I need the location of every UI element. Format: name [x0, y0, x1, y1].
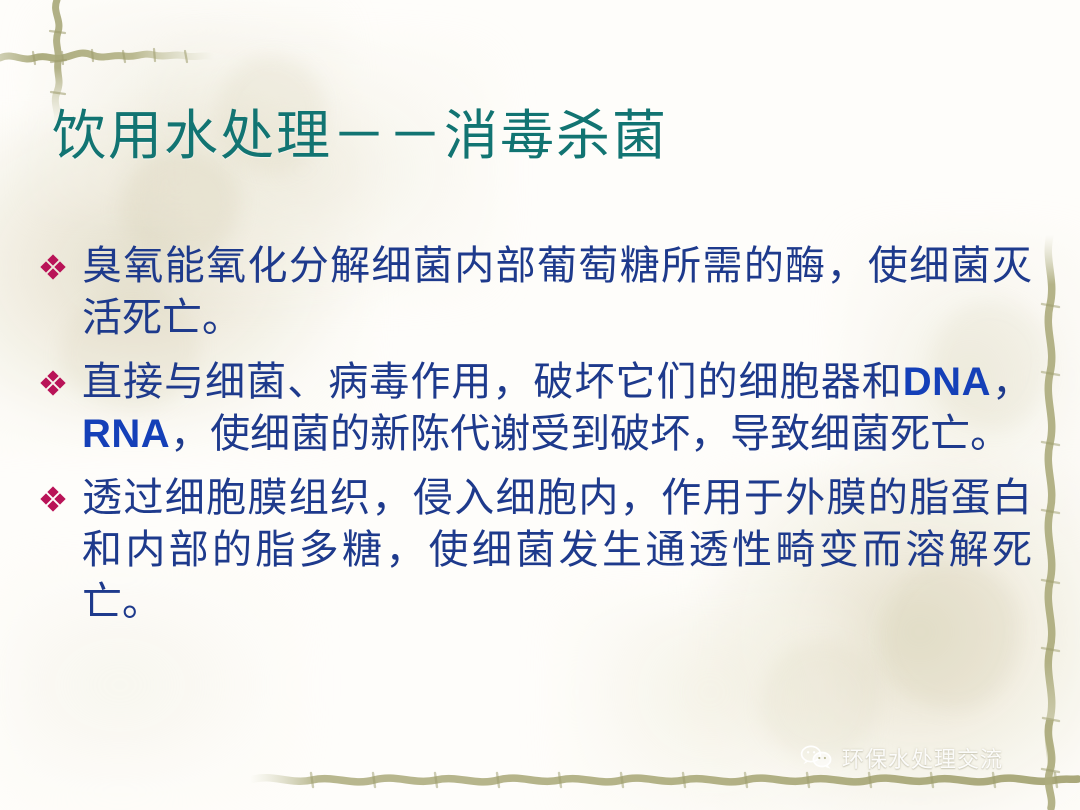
ghost-blossom-5 [760, 640, 880, 760]
bullet-item: 直接与细菌、病毒作用，破坏它们的细胞器和DNA，RNA，使细菌的新陈代谢受到破坏… [42, 356, 1032, 460]
bullet-list: 臭氧能氧化分解细菌内部葡萄糖所需的酶，使细菌灭活死亡。 直接与细菌、病毒作用，破… [42, 240, 1032, 640]
bullet-segment-comma: ， [991, 359, 1032, 404]
watermark: 环保水处理交流 [800, 742, 1003, 774]
bullet-segment-dna: DNA [903, 360, 991, 404]
bullet-segment-cjk: 臭氧能氧化分解细菌内部葡萄糖所需的酶，使细菌灭活死亡。 [82, 243, 1032, 340]
diamond-cluster-icon [42, 256, 64, 278]
background-wash-topleft [30, 0, 350, 210]
bullet-text: 直接与细菌、病毒作用，破坏它们的细胞器和DNA，RNA，使细菌的新陈代谢受到破坏… [82, 356, 1032, 460]
bamboo-cross-bottom-right [1032, 720, 1074, 810]
bullet-segment-cjk-tail: ，使细菌的新陈代谢受到破坏，导致细菌死亡。 [170, 411, 1010, 456]
bullet-segment-cjk: 直接与细菌、病毒作用，破坏它们的细胞器和 [82, 359, 903, 404]
bamboo-stalk-right-edge [1030, 235, 1075, 795]
bullet-marker [42, 356, 82, 399]
bullet-segment-rna: RNA [82, 412, 170, 456]
wechat-icon [800, 744, 834, 772]
bamboo-rail-bottom-edge [250, 755, 1080, 810]
slide-canvas: 饮用水处理－－消毒杀菌 臭氧能氧化分解细菌内部葡萄糖所需的酶，使细菌灭活死亡。 … [0, 0, 1080, 810]
diamond-cluster-icon [42, 372, 64, 394]
bullet-marker [42, 472, 82, 515]
bullet-text: 透过细胞膜组织，侵入细胞内，作用于外膜的脂蛋白和内部的脂多糖，使细菌发生通透性畸… [82, 472, 1032, 628]
bullet-text: 臭氧能氧化分解细菌内部葡萄糖所需的酶，使细菌灭活死亡。 [82, 240, 1032, 344]
slide-title: 饮用水处理－－消毒杀菌 [52, 108, 668, 165]
bullet-item: 透过细胞膜组织，侵入细胞内，作用于外膜的脂蛋白和内部的脂多糖，使细菌发生通透性畸… [42, 472, 1032, 628]
bullet-segment-cjk: 透过细胞膜组织，侵入细胞内，作用于外膜的脂蛋白和内部的脂多糖，使细菌发生通透性畸… [82, 475, 1032, 624]
bullet-marker [42, 240, 82, 283]
bullet-item: 臭氧能氧化分解细菌内部葡萄糖所需的酶，使细菌灭活死亡。 [42, 240, 1032, 344]
watermark-text: 环保水处理交流 [842, 742, 1003, 774]
diamond-cluster-icon [42, 488, 64, 510]
